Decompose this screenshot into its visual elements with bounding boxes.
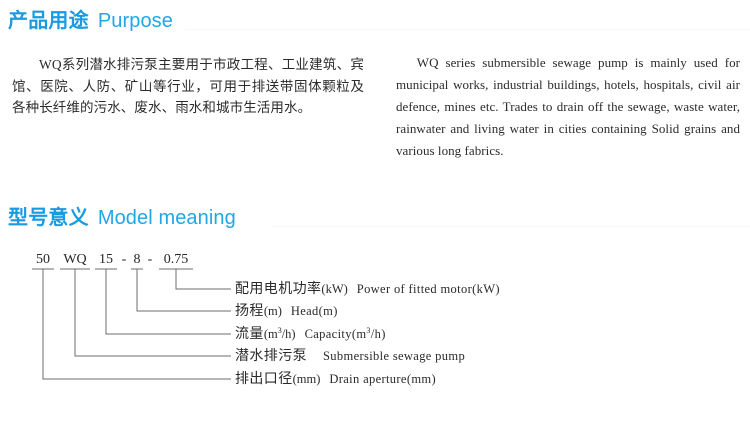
legend-aperture-en: Drain aperture(mm) — [320, 372, 436, 386]
legend-head-en: Head(m) — [282, 304, 338, 318]
legend-capacity-en-tail: /h) — [371, 327, 386, 341]
section-heading-model-en: Model meaning — [89, 207, 236, 229]
legend-capacity-unit: (m3/h) — [264, 327, 296, 341]
legend-aperture-unit: (mm) — [293, 372, 321, 386]
leader-path-pump — [75, 269, 231, 356]
section-heading-model-meaning: 型号意义Model meaning — [8, 206, 236, 230]
legend-head-unit: (m) — [264, 304, 282, 318]
legend-capacity-cn: 流量 — [235, 327, 264, 342]
legend-capacity-unit-base: (m — [264, 327, 278, 341]
purpose-paragraph-english: WQ series submersible sewage pump is mai… — [396, 52, 740, 162]
leader-path-power — [176, 269, 231, 289]
model-meaning-diagram: 50 WQ 15 - 8 - 0.75 配用电机功率(kW)Power of f… — [0, 248, 750, 416]
legend-item-power: 配用电机功率(kW)Power of fitted motor(kW) — [235, 281, 500, 298]
legend-item-capacity: 流量(m3/h)Capacity(m3/h) — [235, 326, 386, 343]
section-heading-purpose-en: Purpose — [89, 10, 173, 32]
leader-path-capacity — [106, 269, 231, 334]
heading-rule-purpose — [185, 29, 750, 30]
legend-power-unit: (kW) — [321, 282, 347, 296]
legend-aperture-cn: 排出口径 — [235, 372, 293, 387]
section-heading-model-cn: 型号意义 — [8, 207, 89, 229]
legend-capacity-en-base: Capacity(m — [305, 327, 367, 341]
legend-item-head: 扬程(m)Head(m) — [235, 303, 338, 320]
legend-power-cn: 配用电机功率 — [235, 282, 321, 297]
legend-capacity-unit-tail: /h) — [282, 327, 296, 341]
section-heading-purpose: 产品用途Purpose — [8, 9, 173, 33]
purpose-paragraph-chinese: WQ系列潜水排污泵主要用于市政工程、工业建筑、宾馆、医院、人防、矿山等行业，可用… — [12, 54, 364, 119]
legend-power-en: Power of fitted motor(kW) — [348, 282, 500, 296]
legend-item-aperture: 排出口径(mm)Drain aperture(mm) — [235, 371, 436, 388]
legend-capacity-en: Capacity(m3/h) — [296, 327, 386, 341]
legend-item-pump: 潜水排污泵Submersible sewage pump — [235, 348, 465, 365]
legend-head-cn: 扬程 — [235, 304, 264, 319]
section-heading-purpose-cn: 产品用途 — [8, 10, 89, 32]
legend-pump-en: Submersible sewage pump — [307, 349, 465, 363]
heading-rule-model-meaning — [272, 226, 750, 227]
legend-pump-cn: 潜水排污泵 — [235, 349, 307, 364]
leader-path-head — [137, 269, 231, 311]
